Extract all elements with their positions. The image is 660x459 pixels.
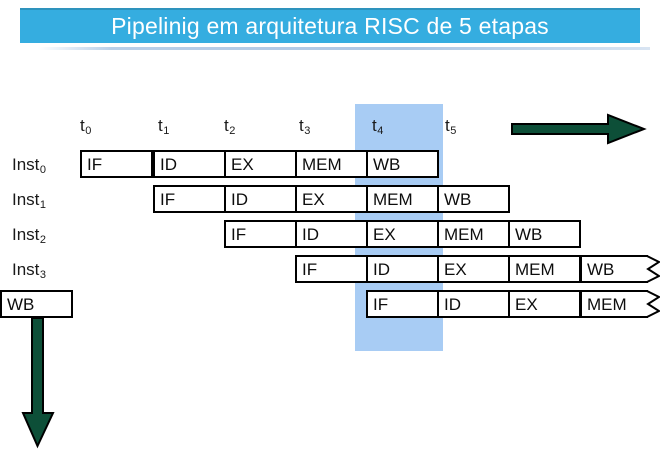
stage-label: MEM — [302, 156, 342, 173]
stage-box-inst4-if: IF — [366, 290, 439, 318]
stage-label: ID — [373, 261, 390, 278]
stage-box-inst2-ex: EX — [366, 220, 439, 248]
instruction-label-inst0: Inst0 — [12, 155, 46, 176]
stage-label: WB — [444, 191, 471, 208]
stage-label: MEM — [515, 261, 555, 278]
time-label-t3: t3 — [299, 116, 310, 137]
stage-box-inst2-mem: MEM — [437, 220, 510, 248]
stage-label: EX — [515, 296, 538, 313]
stage-label: IF — [160, 191, 175, 208]
stage-label: IF — [87, 156, 102, 173]
stage-box-inst1-if: IF — [153, 185, 226, 213]
stage-label: MEM — [587, 296, 627, 313]
stage-box-inst3-wb: WB — [580, 255, 648, 283]
stage-box-inst1-wb: WB — [437, 185, 510, 213]
time-label-t0: t0 — [80, 116, 91, 137]
time-label-t4: t4 — [372, 116, 383, 137]
stage-box-inst2-wb: WB — [508, 220, 581, 248]
stage-label: IF — [231, 226, 246, 243]
stage-box-inst0-mem: MEM — [295, 150, 368, 178]
instruction-label-inst2: Inst2 — [12, 225, 46, 246]
time-direction-arrow-icon — [508, 112, 648, 146]
stage-box-inst0-wb: WB — [366, 150, 439, 178]
time-label-t2: t2 — [224, 116, 235, 137]
stage-box-inst2-id: ID — [295, 220, 368, 248]
stage-label: WB — [587, 261, 614, 278]
instruction-label-inst3: Inst3 — [12, 260, 46, 281]
time-label-t1: t1 — [158, 116, 169, 137]
stage-label: WB — [373, 156, 400, 173]
stage-label: WB — [515, 226, 542, 243]
stage-box-inst4-ex: EX — [508, 290, 581, 318]
stage-label: ID — [231, 191, 248, 208]
time-label-t5: t5 — [445, 116, 456, 137]
stage-box-inst4-mem: MEM — [580, 290, 648, 318]
stage-label: EX — [302, 191, 325, 208]
stage-box-inst0-id: ID — [153, 150, 226, 178]
stage-label: WB — [7, 296, 34, 313]
stage-box-inst1-mem: MEM — [366, 185, 439, 213]
stage-box-inst1-ex: EX — [295, 185, 368, 213]
instruction-order-arrow-icon — [18, 315, 60, 450]
stage-box-inst0-ex: EX — [224, 150, 297, 178]
pipeline-diagram: t0t1t2t3t4t5 Inst0Inst1Inst2Inst3Inst4 I… — [0, 0, 660, 459]
stage-label: EX — [444, 261, 467, 278]
torn-edge-icon — [645, 255, 660, 283]
stage-label: EX — [231, 156, 254, 173]
stage-label: IF — [373, 296, 388, 313]
stage-label: ID — [160, 156, 177, 173]
stage-box-inst0-if: IF — [80, 150, 153, 178]
stage-label: MEM — [444, 226, 484, 243]
stage-label: IF — [302, 261, 317, 278]
stage-box-inst1-id: ID — [224, 185, 297, 213]
instruction-label-inst1: Inst1 — [12, 190, 46, 211]
torn-edge-icon — [645, 290, 660, 318]
stage-label: ID — [444, 296, 461, 313]
stage-box-inst2-if: IF — [224, 220, 297, 248]
stage-box-inst3-ex: EX — [437, 255, 510, 283]
stage-box-inst3-if: IF — [295, 255, 368, 283]
stage-box-inst4-wb: WB — [0, 290, 73, 318]
stage-box-inst3-mem: MEM — [508, 255, 581, 283]
stage-label: EX — [373, 226, 396, 243]
stage-box-inst4-id: ID — [437, 290, 510, 318]
stage-label: ID — [302, 226, 319, 243]
stage-label: MEM — [373, 191, 413, 208]
stage-box-inst3-id: ID — [366, 255, 439, 283]
